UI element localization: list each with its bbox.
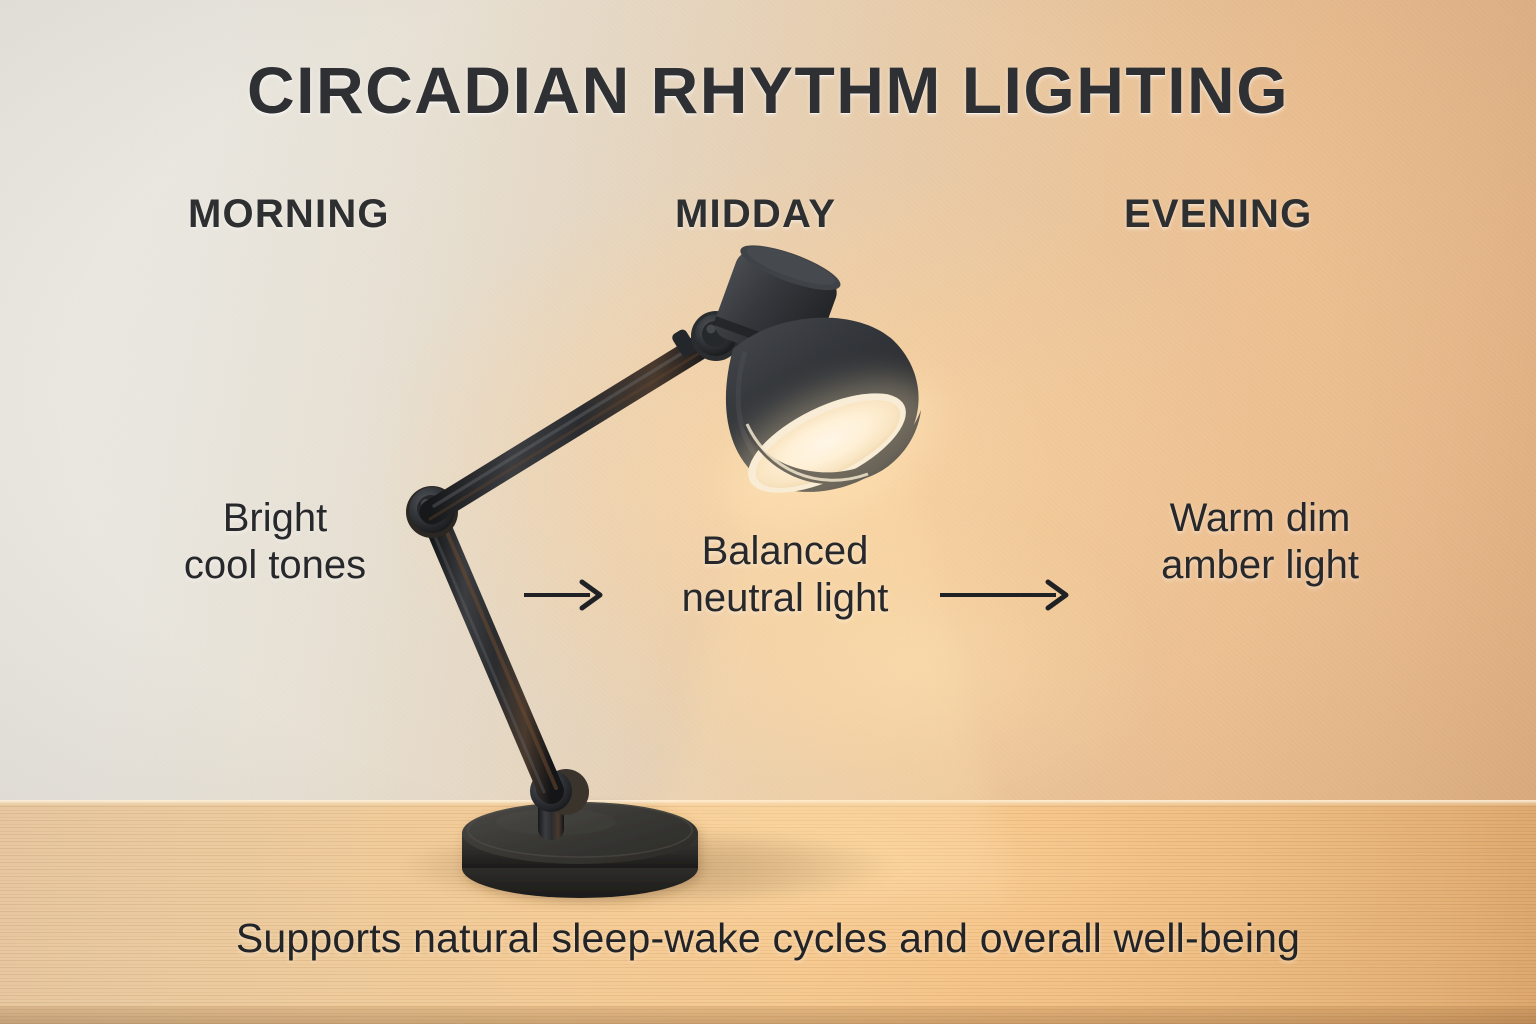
desk-front-face bbox=[0, 1006, 1536, 1024]
stage-label-midday-line2: neutral light bbox=[625, 575, 945, 622]
arrow-right-icon bbox=[522, 578, 608, 612]
stage-label-evening: Warm dim amber light bbox=[1090, 495, 1430, 589]
stage-label-morning-line1: Bright bbox=[110, 495, 440, 542]
stage-heading-morning: MORNING bbox=[188, 192, 390, 237]
stage-heading-midday: MIDDAY bbox=[675, 192, 836, 237]
stage-heading-evening: EVENING bbox=[1124, 192, 1312, 237]
stage-label-midday-line1: Balanced bbox=[625, 528, 945, 575]
stage-label-midday: Balanced neutral light bbox=[625, 528, 945, 622]
footer-caption: Supports natural sleep-wake cycles and o… bbox=[0, 915, 1536, 962]
arrow-right-icon bbox=[938, 578, 1074, 612]
stage-label-morning-line2: cool tones bbox=[110, 542, 440, 589]
page-title: CIRCADIAN RHYTHM LIGHTING bbox=[0, 52, 1536, 128]
stage-label-morning: Bright cool tones bbox=[110, 495, 440, 589]
stage-label-evening-line2: amber light bbox=[1090, 542, 1430, 589]
infographic-poster: CIRCADIAN RHYTHM LIGHTING MORNING MIDDAY… bbox=[0, 0, 1536, 1024]
stage-label-evening-line1: Warm dim bbox=[1090, 495, 1430, 542]
